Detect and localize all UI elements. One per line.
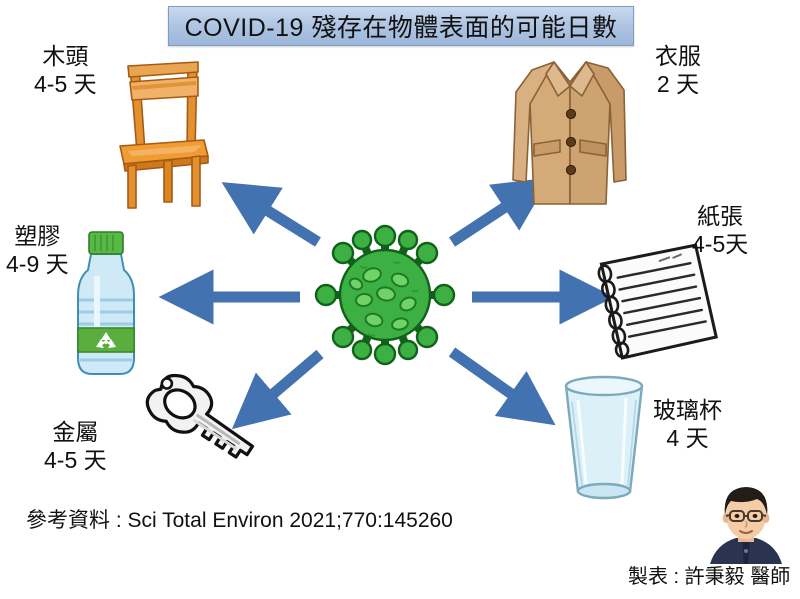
bottle-cap [89,232,123,254]
arrow-to-wood [244,196,318,242]
coat-button [566,109,575,118]
label-paper: 紙張 4-5天 [692,202,748,258]
glass-cup-icon [552,372,656,504]
arrow-to-metal [252,354,320,412]
coat-button [566,137,575,146]
key-icon [128,368,254,490]
reference-text: 參考資料 : Sci Total Environ 2021;770:145260 [26,504,453,534]
label-plastic-material: 塑膠 [6,222,69,250]
label-glass: 玻璃杯 4 天 [653,396,722,452]
label-wood: 木頭 4-5 天 [34,42,97,98]
page-title: COVID-19 殘存在物體表面的可能日數 [168,6,634,46]
label-cloth-material: 衣服 [655,42,701,70]
notepad-icon [592,248,720,356]
label-plastic: 塑膠 4-9 天 [6,222,69,278]
coat-button [566,165,575,174]
label-glass-material: 玻璃杯 [653,396,722,424]
label-metal-material: 金屬 [44,418,107,446]
label-paper-duration: 4-5天 [692,230,748,258]
page-title-text: COVID-19 殘存在物體表面的可能日數 [185,8,618,44]
coronavirus-icon [312,222,458,368]
label-metal-duration: 4-5 天 [44,446,107,474]
label-wood-duration: 4-5 天 [34,70,97,98]
avatar [702,476,790,564]
label-glass-duration: 4 天 [653,424,722,452]
arrow-to-glass [452,352,534,410]
label-wood-material: 木頭 [34,42,97,70]
label-paper-material: 紙張 [692,202,748,230]
label-cloth-duration: 2 天 [655,70,701,98]
label-metal: 金屬 4-5 天 [44,418,107,474]
bottle-icon [66,228,146,380]
infographic-canvas: COVID-19 殘存在物體表面的可能日數 [0,0,800,599]
chair-icon [108,56,212,211]
credit-text: 製表 : 許秉毅 醫師 [628,560,790,589]
label-cloth: 衣服 2 天 [655,42,701,98]
coat-icon [512,52,628,212]
label-plastic-duration: 4-9 天 [6,250,69,278]
